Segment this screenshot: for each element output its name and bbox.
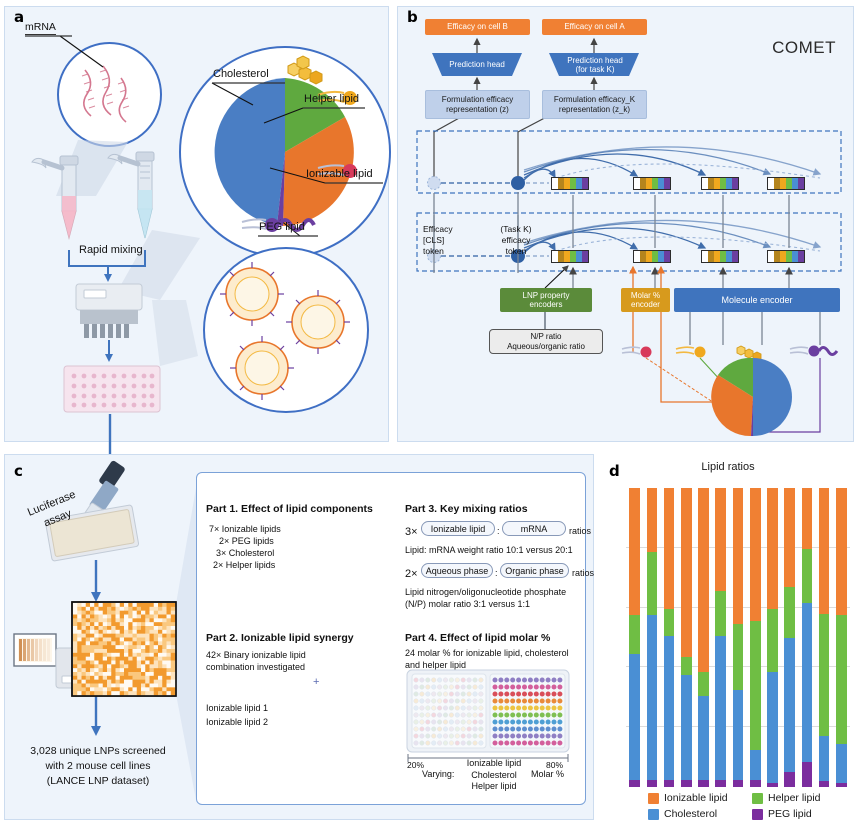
part3-pill-mrna: mRNA [502, 521, 566, 536]
bar-6 [715, 488, 726, 787]
legend-swatch [752, 809, 763, 820]
legend-item: Cholesterol [648, 808, 752, 820]
token-cell [798, 251, 804, 262]
token-row [767, 250, 805, 263]
token-cell [582, 251, 588, 262]
bar-4 [681, 488, 692, 787]
token-cell [732, 251, 738, 262]
bar-segment-ionizable-lipid [715, 488, 726, 591]
legend-item: PEG lipid [752, 808, 858, 820]
part3-count1: 3× [405, 525, 418, 539]
output-efficacy-cell-a: Efficacy on cell A [542, 19, 647, 35]
pie-label-peg: PEG lipid [259, 221, 305, 233]
bar-9 [767, 488, 778, 787]
token-row [633, 250, 671, 263]
legend-label: PEG lipid [768, 808, 812, 820]
bar-segment-peg-lipid [767, 783, 778, 787]
bar-segment-cholesterol [698, 696, 709, 780]
part3-title: Part 3. Key mixing ratios [405, 503, 528, 515]
part3-count2: 2× [405, 567, 418, 581]
token-cell [732, 178, 738, 189]
bar-segment-peg-lipid [647, 780, 658, 787]
legend-swatch [648, 793, 659, 804]
bar-segment-peg-lipid [819, 781, 830, 787]
part1-title: Part 1. Effect of lipid components [206, 503, 373, 515]
bar-segment-helper-lipid [750, 621, 761, 750]
legend-swatch [752, 793, 763, 804]
output-efficacy-cell-b: Efficacy on cell B [425, 19, 530, 35]
bar-segment-cholesterol [681, 675, 692, 780]
bar-segment-helper-lipid [802, 549, 813, 603]
bar-10 [784, 488, 795, 787]
part4-varying-items: Ionizable lipid Cholesterol Helper lipid [459, 758, 529, 793]
legend-label: Ionizable lipid [664, 792, 728, 804]
pie-label-cholesterol: Cholesterol [213, 68, 269, 80]
bar-segment-ionizable-lipid [681, 488, 692, 657]
panel-d-title: Lipid ratios [600, 461, 856, 473]
bar-segment-cholesterol [647, 615, 658, 779]
legend-item: Ionizable lipid [648, 792, 752, 804]
molar-percent-encoder: Molar % encoder [621, 288, 670, 312]
bar-2 [647, 488, 658, 787]
part2-caption: 42× Binary ionizable lipid combination i… [206, 650, 306, 673]
bar-8 [750, 488, 761, 787]
part2-ionizable-lipid-1-label: Ionizable lipid 1 [206, 703, 268, 715]
bar-segment-peg-lipid [802, 762, 813, 787]
legend-label: Cholesterol [664, 808, 717, 820]
comet-title: COMET [772, 38, 836, 58]
part1-item-0: 7× Ionizable lipids [209, 524, 281, 536]
bar-segment-helper-lipid [715, 591, 726, 636]
bar-12 [819, 488, 830, 787]
bar-5 [698, 488, 709, 787]
token-cell [664, 251, 670, 262]
bar-13 [836, 488, 847, 787]
bar-segment-ionizable-lipid [836, 488, 847, 615]
bar-segment-cholesterol [802, 603, 813, 761]
part3-ratios-word-2: ratios [572, 568, 594, 580]
bar-segment-cholesterol [836, 744, 847, 783]
part3-colon-1: : [497, 526, 500, 538]
task-k-efficacy-token-label: (Task K) efficacy token [487, 224, 545, 257]
part4-title: Part 4. Effect of lipid molar % [405, 632, 550, 644]
part3-note-2: Lipid nitrogen/oligonucleotide phosphate… [405, 587, 566, 610]
bar-segment-cholesterol [733, 690, 744, 780]
token-row [701, 177, 739, 190]
part3-colon-2: : [495, 568, 498, 580]
bar-segment-peg-lipid [681, 780, 692, 787]
bar-segment-peg-lipid [698, 780, 709, 787]
bar-segment-ionizable-lipid [784, 488, 795, 587]
bar-segment-peg-lipid [750, 780, 761, 787]
part3-note-1: Lipid: mRNA weight ratio 10:1 versus 20:… [405, 545, 573, 557]
bar-segment-helper-lipid [767, 609, 778, 672]
pie-label-helper: Helper lipid [304, 93, 359, 105]
token-row [551, 177, 589, 190]
dataset-summary-label: 3,028 unique LNPs screened with 2 mouse … [8, 744, 188, 790]
bar-3 [664, 488, 675, 787]
bar-segment-helper-lipid [836, 615, 847, 744]
token-row [551, 250, 589, 263]
bar-segment-ionizable-lipid [819, 488, 830, 614]
bar-segment-cholesterol [819, 736, 830, 781]
legend-label: Helper lipid [768, 792, 821, 804]
bar-segment-helper-lipid [664, 609, 675, 636]
pie-label-ionizable: Ionizable lipid [306, 168, 373, 180]
bar-segment-ionizable-lipid [698, 488, 709, 672]
formulation-efficacy-zk: Formulation efficacy_K representation (z… [542, 90, 647, 119]
molecule-encoder: Molecule encoder [674, 288, 840, 312]
part4-molar-label: Molar % [531, 769, 564, 781]
lipid-ratios-stacked-bar-chart [626, 488, 850, 787]
efficacy-cls-token-label: Efficacy [CLS] token [423, 224, 453, 257]
mrna-label: mRNA [25, 21, 56, 35]
bar-segment-peg-lipid [629, 780, 640, 787]
formulation-efficacy-z: Formulation efficacy representation (z) [425, 90, 530, 119]
part4-subtitle: 24 molar % for ionizable lipid, choleste… [405, 648, 569, 671]
bar-7 [733, 488, 744, 787]
bar-segment-ionizable-lipid [647, 488, 658, 552]
lnp-properties-box: N/P ratio Aqueous/organic ratio [489, 329, 603, 354]
rapid-mixing-label: Rapid mixing [79, 244, 143, 256]
part4-varying-label: Varying: [422, 769, 454, 781]
bar-segment-ionizable-lipid [750, 488, 761, 621]
bar-1 [629, 488, 640, 787]
bar-segment-cholesterol [784, 638, 795, 773]
token-cell [582, 178, 588, 189]
bar-segment-helper-lipid [698, 672, 709, 696]
prediction-head-taskk-label: Prediction head (for task K) [556, 54, 634, 76]
bar-segment-cholesterol [629, 654, 640, 780]
token-row [701, 250, 739, 263]
bar-segment-helper-lipid [647, 552, 658, 615]
bar-segment-cholesterol [750, 750, 761, 780]
bar-segment-cholesterol [664, 636, 675, 780]
legend-swatch [648, 809, 659, 820]
part1-item-3: 2× Helper lipids [213, 560, 275, 572]
bar-segment-cholesterol [767, 672, 778, 783]
part1-item-1: 2× PEG lipids [219, 536, 274, 548]
bar-segment-helper-lipid [733, 624, 744, 690]
panel-c-letter: c [14, 462, 23, 480]
part3-ratios-word-1: ratios [569, 526, 591, 538]
part2-title: Part 2. Ionizable lipid synergy [206, 632, 354, 644]
part2-plus-symbol: + [313, 675, 319, 689]
bar-segment-ionizable-lipid [767, 488, 778, 609]
token-cell [798, 178, 804, 189]
bar-segment-helper-lipid [819, 614, 830, 737]
token-row [767, 177, 805, 190]
token-cell [664, 178, 670, 189]
panel-b-letter: b [407, 8, 418, 26]
bar-segment-cholesterol [715, 636, 726, 780]
token-row [633, 177, 671, 190]
mrna-circle [57, 42, 162, 147]
bar-segment-peg-lipid [836, 783, 847, 787]
bar-segment-peg-lipid [784, 772, 795, 787]
part3-pill-organic-phase: Organic phase [500, 563, 569, 578]
bar-segment-ionizable-lipid [664, 488, 675, 609]
bar-11 [802, 488, 813, 787]
bar-segment-ionizable-lipid [733, 488, 744, 624]
panel-a-letter: a [14, 8, 24, 26]
chart-legend: Ionizable lipidHelper lipidCholesterolPE… [648, 792, 858, 820]
bar-segment-peg-lipid [664, 780, 675, 787]
lnp-property-encoders: LNP property encoders [500, 288, 592, 312]
prediction-head-generic-label: Prediction head [438, 56, 516, 74]
bar-segment-helper-lipid [784, 587, 795, 638]
bar-segment-peg-lipid [733, 780, 744, 787]
part2-ionizable-lipid-2-label: Ionizable lipid 2 [206, 717, 268, 729]
bar-segment-helper-lipid [629, 615, 640, 654]
bar-segment-helper-lipid [681, 657, 692, 675]
bar-segment-peg-lipid [715, 780, 726, 787]
bar-segment-ionizable-lipid [802, 488, 813, 549]
bar-segment-ionizable-lipid [629, 488, 640, 615]
part3-pill-ionizable-lipid: Ionizable lipid [421, 521, 495, 536]
part1-item-2: 3× Cholesterol [216, 548, 274, 560]
legend-item: Helper lipid [752, 792, 858, 804]
part3-pill-aqueous-phase: Aqueous phase [421, 563, 493, 578]
